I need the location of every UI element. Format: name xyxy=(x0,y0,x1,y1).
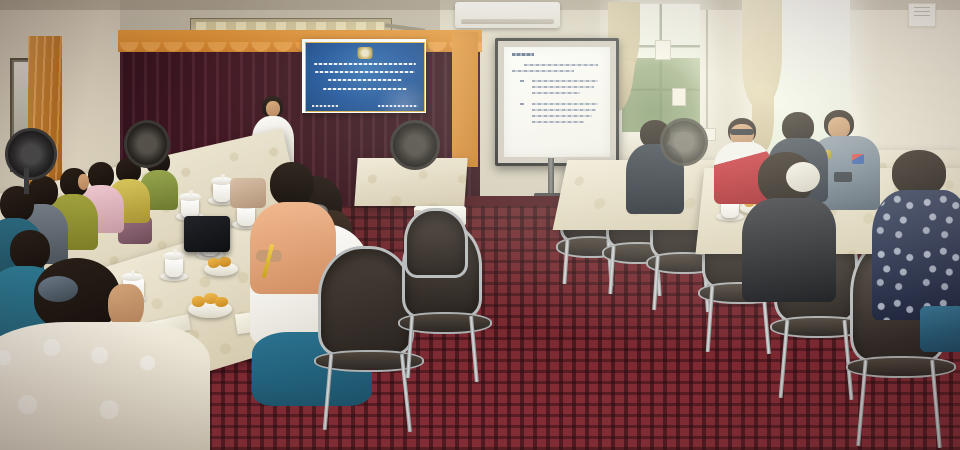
presentation-slide xyxy=(504,47,610,157)
handbag-black xyxy=(184,216,230,252)
fan-pole xyxy=(24,168,29,194)
projection-screen xyxy=(495,38,619,166)
uniform-nameplate xyxy=(834,172,852,182)
banner-footer-left xyxy=(312,105,338,107)
dark-top xyxy=(742,198,836,302)
banner-text-line-1 xyxy=(314,63,415,65)
side-curtain-right xyxy=(452,32,478,167)
uniform-patch xyxy=(852,154,864,164)
slide-bullet-marker-1 xyxy=(520,80,524,82)
slide-bullet-2-line-4 xyxy=(532,121,584,123)
attendee-lace-blouse xyxy=(0,262,220,450)
chair[interactable] xyxy=(404,208,468,278)
banner-text-line-2 xyxy=(315,71,414,73)
lidded-teacup xyxy=(213,182,231,202)
lace-pattern xyxy=(0,324,210,450)
state-seal-emblem xyxy=(358,47,373,59)
event-banner xyxy=(302,39,426,113)
lidded-teacup xyxy=(237,206,255,226)
slide-paragraph-line-2 xyxy=(512,70,574,72)
wall-cable xyxy=(706,10,708,128)
chair[interactable] xyxy=(318,246,414,356)
floral-pattern xyxy=(872,192,960,320)
slide-bullet-1-line-1 xyxy=(532,80,598,82)
slide-heading xyxy=(512,53,534,56)
pedestal-fan-center xyxy=(390,120,440,170)
wall-notice-sign xyxy=(908,3,936,27)
slide-bullet-1-line-2 xyxy=(532,86,594,88)
fried-snack xyxy=(219,257,231,267)
pedestal-fan-left-2 xyxy=(124,120,170,168)
attendee-navy-floral xyxy=(876,150,960,340)
light-switch-plate xyxy=(672,88,686,106)
sunglasses xyxy=(730,129,754,135)
pedestal-fan-left-1 xyxy=(5,128,57,180)
banner-text-line-3 xyxy=(328,79,401,81)
banner-text-line-4 xyxy=(323,88,408,90)
pedestal-fan-right xyxy=(660,118,708,166)
slide-bullet-2-line-1 xyxy=(532,103,598,105)
wall-small-sign xyxy=(655,40,671,60)
banner-footer-right xyxy=(378,105,418,107)
seminar-room-photo xyxy=(0,0,960,450)
presenter-face xyxy=(266,101,280,117)
hair-scrunchie xyxy=(786,162,820,192)
slide-bullet-2-line-2 xyxy=(532,109,596,111)
blue-longyi xyxy=(920,306,960,352)
curtain-valance xyxy=(118,30,482,52)
slide-paragraph-line-1 xyxy=(524,64,598,66)
screen-stand-pole xyxy=(548,158,554,196)
attendee-white-hairclip xyxy=(742,152,836,302)
hair-ornament xyxy=(38,276,78,302)
air-conditioner xyxy=(455,2,560,28)
slide-bullet-1-line-3 xyxy=(532,92,580,94)
slide-bullet-2-line-3 xyxy=(532,115,592,117)
lidded-teacup xyxy=(181,198,199,218)
slide-bullet-marker-2 xyxy=(520,103,524,105)
